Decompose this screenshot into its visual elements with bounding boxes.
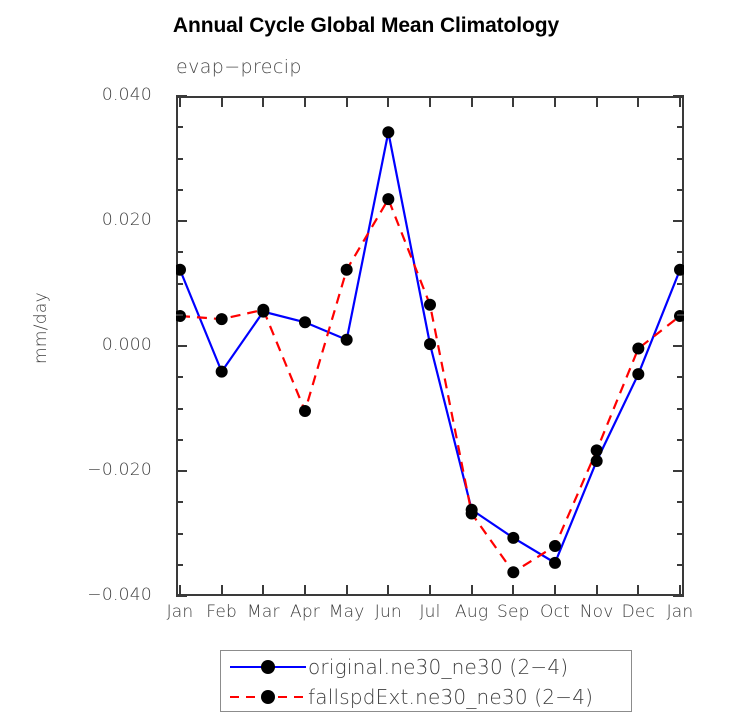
x-tick-major-top: [596, 96, 598, 107]
data-point-marker: [299, 405, 311, 417]
y-tick-minor-right: [677, 501, 684, 503]
legend-item-original[interactable]: original.ne30_ne30 (2−4): [221, 651, 633, 682]
y-tick-minor-right: [677, 126, 684, 128]
y-tick-minor: [176, 408, 183, 410]
x-tick-major-top: [221, 96, 223, 107]
chart-canvas: Annual Cycle Global Mean Climatology eva…: [0, 0, 732, 719]
x-tick-major-top: [679, 96, 681, 107]
y-tick-minor: [176, 564, 183, 566]
x-tick-major: [429, 585, 431, 596]
y-tick-minor: [176, 439, 183, 441]
series-line-1: [180, 199, 680, 572]
chart-subtitle: evap−precip: [176, 56, 302, 78]
data-point-marker: [341, 334, 353, 346]
page-title: Annual Cycle Global Mean Climatology: [0, 14, 732, 38]
y-tick-major-right: [673, 220, 684, 222]
x-tick-major: [262, 585, 264, 596]
data-point-marker: [591, 455, 603, 467]
y-tick-label: −0.040: [62, 585, 152, 605]
x-tick-major: [512, 585, 514, 596]
y-tick-minor-right: [677, 439, 684, 441]
y-tick-label: 0.020: [62, 210, 152, 230]
data-point-marker: [549, 557, 561, 569]
y-tick-label: −0.020: [62, 460, 152, 480]
x-tick-major-top: [387, 96, 389, 107]
y-tick-label: 0.000: [62, 335, 152, 355]
x-tick-major: [554, 585, 556, 596]
y-tick-minor-right: [677, 283, 684, 285]
y-tick-label: 0.040: [62, 85, 152, 105]
y-tick-minor: [176, 376, 183, 378]
x-tick-major-top: [179, 96, 181, 107]
data-point-marker: [341, 264, 353, 276]
y-tick-minor-right: [677, 376, 684, 378]
x-tick-major: [596, 585, 598, 596]
y-tick-major: [176, 470, 187, 472]
x-tick-major-top: [471, 96, 473, 107]
data-point-marker: [674, 264, 684, 276]
legend-label: fallspdExt.ne30_ne30 (2−4): [308, 685, 593, 709]
y-tick-minor-right: [677, 314, 684, 316]
x-tick-major-top: [346, 96, 348, 107]
y-tick-minor: [176, 314, 183, 316]
data-point-marker: [466, 508, 478, 520]
x-tick-major: [346, 585, 348, 596]
x-tick-major: [179, 585, 181, 596]
data-point-marker: [632, 368, 644, 380]
data-point-marker: [424, 299, 436, 311]
data-point-marker: [674, 310, 684, 322]
y-tick-minor: [176, 189, 183, 191]
legend-item-fallspdext[interactable]: fallspdExt.ne30_ne30 (2−4): [221, 681, 633, 712]
x-tick-major-top: [429, 96, 431, 107]
x-tick-major-top: [512, 96, 514, 107]
data-point-marker: [424, 338, 436, 350]
chart-legend: original.ne30_ne30 (2−4) fallspdExt.ne30…: [220, 650, 632, 712]
y-tick-minor-right: [677, 564, 684, 566]
x-tick-major-top: [262, 96, 264, 107]
y-tick-minor: [176, 283, 183, 285]
data-point-marker: [216, 313, 228, 325]
y-tick-major-right: [673, 470, 684, 472]
legend-label: original.ne30_ne30 (2−4): [308, 655, 568, 679]
data-point-marker: [216, 366, 228, 378]
y-tick-minor-right: [677, 533, 684, 535]
x-tick-major-top: [304, 96, 306, 107]
y-tick-major-right: [673, 345, 684, 347]
data-point-marker: [176, 310, 186, 322]
legend-swatch-dashed-red: [230, 687, 306, 707]
data-point-marker: [507, 566, 519, 578]
data-point-marker: [382, 193, 394, 205]
y-tick-major: [176, 220, 187, 222]
x-tick-major-top: [554, 96, 556, 107]
y-tick-minor: [176, 158, 183, 160]
x-tick-major-top: [637, 96, 639, 107]
y-tick-minor: [176, 126, 183, 128]
x-tick-label: Jan: [645, 602, 715, 622]
x-tick-major: [471, 585, 473, 596]
y-tick-minor: [176, 251, 183, 253]
y-tick-minor-right: [677, 189, 684, 191]
y-tick-minor-right: [677, 251, 684, 253]
data-point-marker: [632, 343, 644, 355]
y-tick-minor: [176, 533, 183, 535]
x-tick-major: [637, 585, 639, 596]
x-tick-major: [221, 585, 223, 596]
data-point-marker: [507, 532, 519, 544]
data-point-marker: [176, 264, 186, 276]
y-tick-major: [176, 595, 187, 597]
y-tick-major: [176, 345, 187, 347]
data-point-marker: [299, 316, 311, 328]
data-point-marker: [549, 540, 561, 552]
data-point-marker: [382, 126, 394, 138]
x-tick-major: [387, 585, 389, 596]
y-tick-minor-right: [677, 408, 684, 410]
y-tick-major: [176, 95, 187, 97]
y-tick-minor: [176, 501, 183, 503]
y-axis-title: mm/day: [31, 268, 51, 388]
data-point-marker: [591, 444, 603, 456]
plot-series-layer: [176, 96, 684, 596]
x-tick-major: [679, 585, 681, 596]
y-tick-minor-right: [677, 158, 684, 160]
data-point-marker: [257, 304, 269, 316]
x-tick-major: [304, 585, 306, 596]
legend-swatch-solid-blue: [230, 657, 306, 677]
